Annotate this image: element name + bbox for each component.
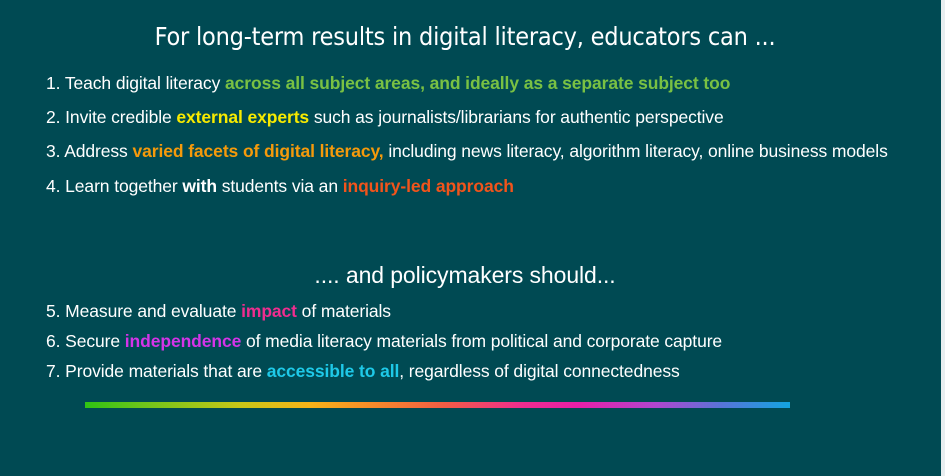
- list-item: 5. Measure and evaluate impact of materi…: [46, 300, 898, 322]
- list-item: 6. Secure independence of media literacy…: [46, 330, 898, 352]
- list-item: 4. Learn together with students via an i…: [46, 175, 898, 197]
- list-item-highlight-cyan: accessible to all: [267, 361, 400, 381]
- list-item-highlight-pink: impact: [241, 301, 297, 321]
- list-item-highlight-magenta: independence: [125, 331, 241, 351]
- list-item-number: 5.: [46, 301, 60, 321]
- list-item-number: 3.: [46, 141, 60, 161]
- slide-title: For long-term results in digital literac…: [0, 22, 930, 51]
- list-item: 7. Provide materials that are accessible…: [46, 360, 898, 382]
- list-item-text-plain: , regardless of digital connectedness: [399, 361, 679, 381]
- list-item-text-plain: Address: [64, 141, 132, 161]
- list-item-text-plain: Provide materials that are: [65, 361, 267, 381]
- list-item-text-plain: Measure and evaluate: [65, 301, 241, 321]
- list-item-highlight-orange: varied facets of digital literacy,: [132, 141, 383, 161]
- gradient-divider-rule: [85, 402, 790, 408]
- policymakers-subheading: .... and policymakers should...: [0, 262, 930, 289]
- list-item: 2. Invite credible external experts such…: [46, 106, 898, 128]
- list-item-text-plain: Learn together: [65, 176, 182, 196]
- list-item-highlight-yellow: external experts: [176, 107, 309, 127]
- educators-list: 1. Teach digital literacy across all sub…: [46, 72, 898, 197]
- list-item-number: 1.: [46, 73, 60, 93]
- list-item-text-plain: Secure: [65, 331, 125, 351]
- list-item-text-plain: Teach digital literacy: [65, 73, 225, 93]
- list-item-text-plain: of media literacy materials from politic…: [241, 331, 722, 351]
- list-item: 1. Teach digital literacy across all sub…: [46, 72, 898, 94]
- slide-canvas: For long-term results in digital literac…: [0, 0, 945, 476]
- list-item-number: 4.: [46, 176, 60, 196]
- list-item-text-plain: students via an: [217, 176, 343, 196]
- list-item-text-plain: Invite credible: [65, 107, 176, 127]
- policymakers-list: 5. Measure and evaluate impact of materi…: [46, 300, 898, 383]
- list-item: 3. Address varied facets of digital lite…: [46, 140, 898, 162]
- list-item-number: 2.: [46, 107, 60, 127]
- list-item-text-plain: of materials: [297, 301, 391, 321]
- list-item-number: 7.: [46, 361, 60, 381]
- list-item-highlight-red-orange: inquiry-led approach: [343, 176, 514, 196]
- list-item-number: 6.: [46, 331, 60, 351]
- list-item-highlight-green: across all subject areas, and ideally as…: [225, 73, 730, 93]
- list-item-text-plain: including news literacy, algorithm liter…: [384, 141, 888, 161]
- list-item-emphasis-white: with: [182, 176, 217, 196]
- list-item-text-plain: such as journalists/librarians for authe…: [309, 107, 724, 127]
- right-edge-strip: [941, 0, 945, 476]
